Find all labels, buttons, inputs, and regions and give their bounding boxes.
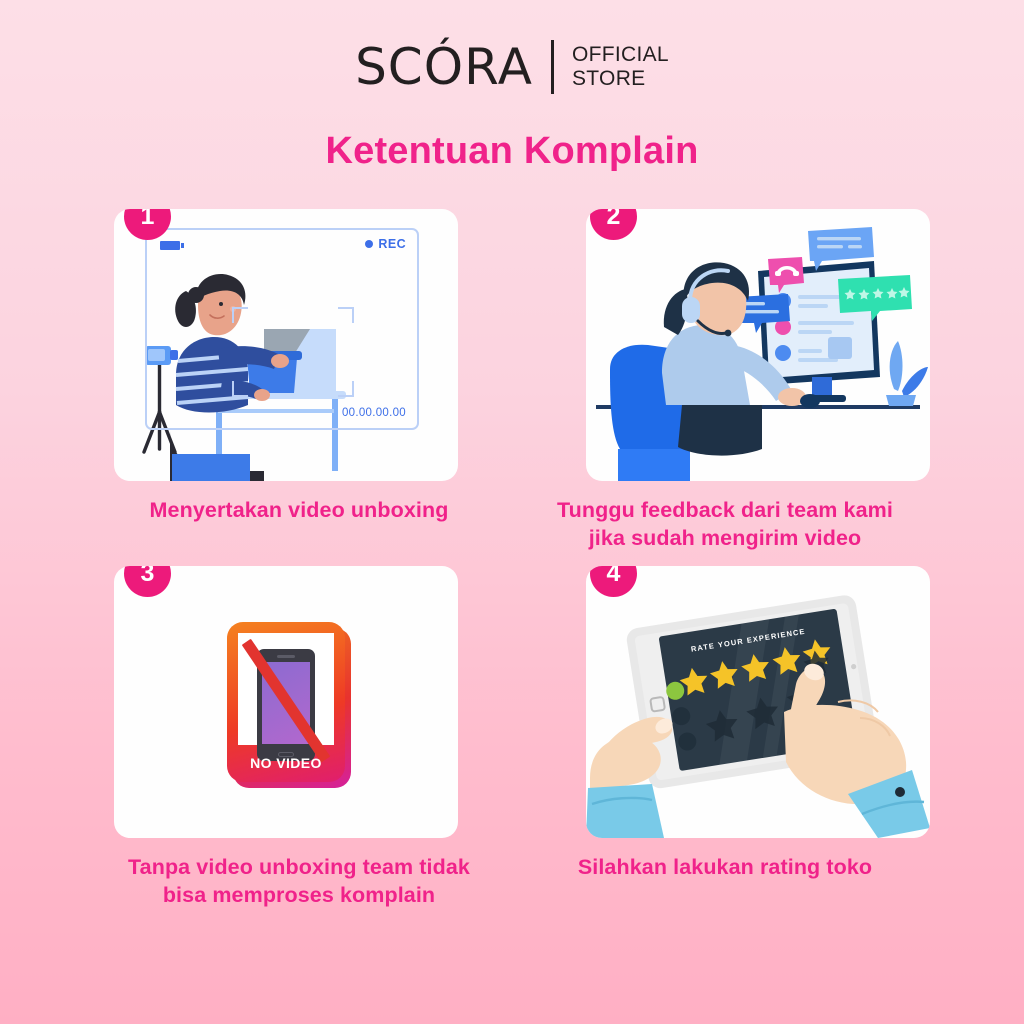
plant-decoration — [886, 341, 928, 406]
brand-tagline: OFFICIAL STORE — [572, 43, 669, 92]
focus-corner-tl-icon — [232, 307, 248, 323]
focus-corner-tr-icon — [338, 307, 354, 323]
step-card-2: 2 — [512, 209, 938, 552]
steps-grid: 1 — [0, 209, 1024, 909]
rec-indicator: REC — [365, 237, 406, 251]
step-3-badge: 3 — [124, 566, 171, 597]
step-card-4: 4 RATE YOUR EXPERIENCE — [512, 566, 938, 909]
step-3-caption: Tanpa video unboxing team tidak bisa mem… — [86, 854, 512, 909]
step-4-caption: Silahkan lakukan rating toko — [512, 854, 938, 882]
step-1-illustration-card: 1 — [114, 209, 458, 481]
rec-dot-icon — [365, 240, 373, 248]
brand-logo: SCÓRA OFFICIAL STORE — [0, 40, 1024, 94]
battery-icon — [160, 241, 180, 250]
focus-corner-bl-icon — [232, 381, 248, 397]
timecode: 00.00.00.00 — [342, 407, 406, 419]
step-2-illustration-card: 2 — [586, 209, 930, 481]
brand-tagline-line2: STORE — [572, 67, 669, 91]
brand-tagline-line1: OFFICIAL — [572, 43, 669, 67]
support-agent-illustration — [586, 209, 930, 481]
step-4-caption-line1: Silahkan lakukan rating toko — [512, 854, 938, 882]
step-1-caption: Menyertakan video unboxing — [86, 497, 512, 525]
no-video-sign: NO VIDEO — [227, 622, 345, 782]
step-3-caption-line1: Tanpa video unboxing team tidak — [86, 854, 512, 882]
step-3-illustration-card: 3 NO VIDEO — [114, 566, 458, 838]
cuff-button — [895, 787, 905, 797]
step-3-caption-line2: bisa memproses komplain — [86, 882, 512, 910]
rec-label: REC — [378, 237, 406, 251]
step-1-caption-line1: Menyertakan video unboxing — [86, 497, 512, 525]
step-4-illustration-card: 4 RATE YOUR EXPERIENCE — [586, 566, 930, 838]
brand-name: SCÓRA — [355, 42, 533, 92]
focus-corner-br-icon — [338, 381, 354, 397]
step-card-1: 1 — [86, 209, 512, 552]
page-header: SCÓRA OFFICIAL STORE Ketentuan Komplain — [0, 0, 1024, 173]
sign-frame: NO VIDEO — [227, 622, 345, 782]
page-title: Ketentuan Komplain — [0, 130, 1024, 173]
phone-speaker — [277, 655, 295, 658]
step-2-caption-line2: jika sudah mengirim video — [512, 525, 938, 553]
camera-viewfinder-overlay: REC 00.00.00.00 — [146, 229, 418, 429]
logo-divider — [551, 40, 554, 94]
step-2-caption: Tunggu feedback dari team kami jika suda… — [512, 497, 938, 552]
no-video-label: NO VIDEO — [227, 755, 345, 771]
step-2-caption-line1: Tunggu feedback dari team kami — [512, 497, 938, 525]
tablet-rating-illustration: RATE YOUR EXPERIENCE — [586, 566, 930, 838]
step-card-3: 3 NO VIDEO Tanpa video unbox — [86, 566, 512, 909]
